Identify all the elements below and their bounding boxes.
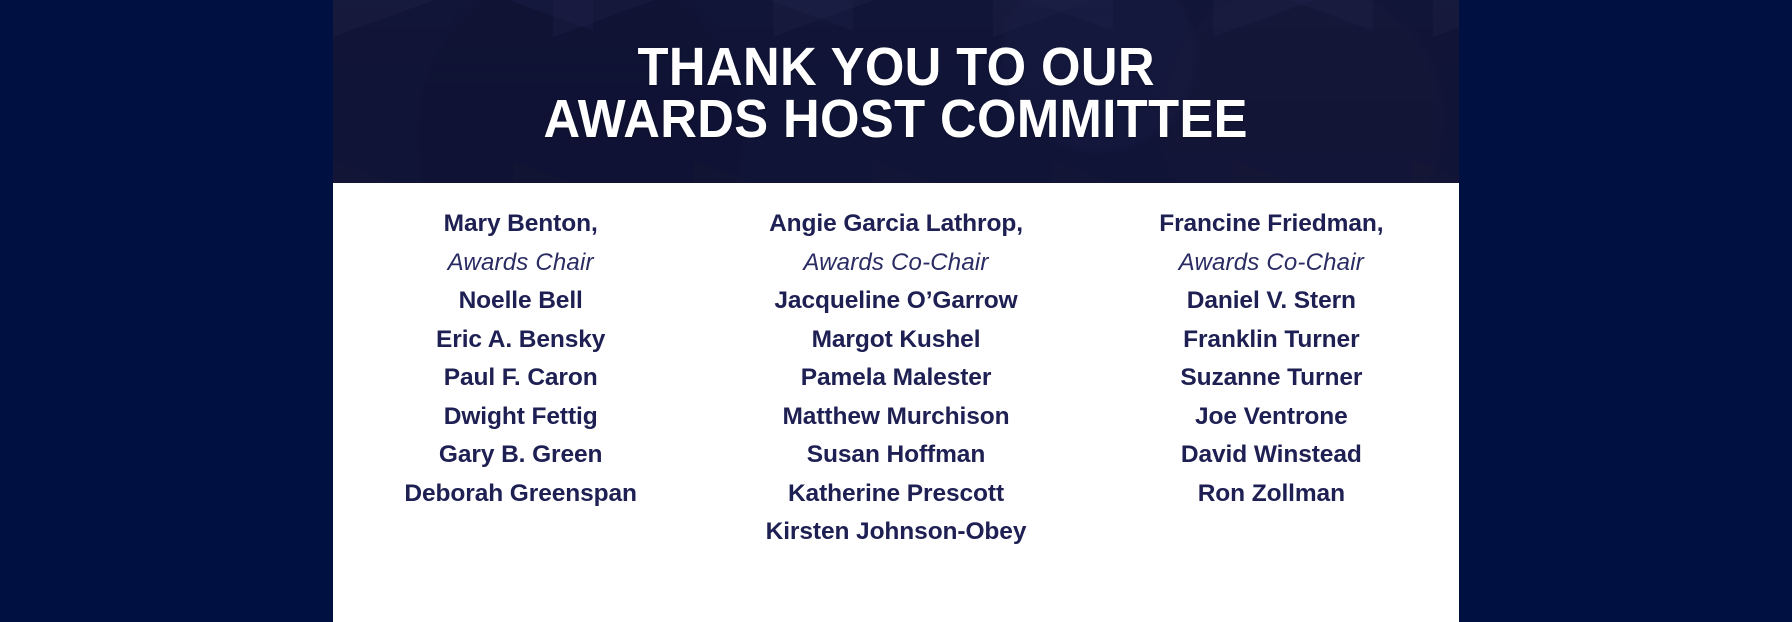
hero-banner: THANK YOU TO OUR AWARDS HOST COMMITTEE — [333, 0, 1459, 183]
page-title-line-2: AWARDS HOST COMMITTEE — [544, 93, 1248, 145]
page-root: THANK YOU TO OUR AWARDS HOST COMMITTEE M… — [0, 0, 1792, 622]
list-item: Kirsten Johnson-Obey — [766, 513, 1027, 552]
list-item: Matthew Murchison — [783, 398, 1010, 437]
committee-column-1: Mary Benton, Awards Chair Noelle Bell Er… — [333, 205, 708, 622]
content-panel: THANK YOU TO OUR AWARDS HOST COMMITTEE M… — [333, 0, 1459, 622]
list-item: Joe Ventrone — [1195, 398, 1348, 437]
list-item: Jacqueline O’Garrow — [774, 282, 1017, 321]
committee-chair-role: Awards Chair — [448, 244, 594, 283]
list-item: Paul F. Caron — [444, 359, 598, 398]
list-item: Noelle Bell — [459, 282, 583, 321]
committee-chair-role: Awards Co-Chair — [803, 244, 988, 283]
list-item: Franklin Turner — [1183, 321, 1359, 360]
list-item: David Winstead — [1181, 436, 1362, 475]
list-item: Katherine Prescott — [788, 475, 1004, 514]
list-item: Gary B. Green — [439, 436, 602, 475]
list-item: Pamela Malester — [801, 359, 992, 398]
list-item: Daniel V. Stern — [1187, 282, 1356, 321]
page-title-line-1: THANK YOU TO OUR — [637, 41, 1154, 93]
page-title: THANK YOU TO OUR AWARDS HOST COMMITTEE — [333, 0, 1459, 183]
committee-column-2: Angie Garcia Lathrop, Awards Co-Chair Ja… — [708, 205, 1083, 622]
committee-column-3: Francine Friedman, Awards Co-Chair Danie… — [1084, 205, 1459, 622]
list-item: Deborah Greenspan — [404, 475, 636, 514]
committee-columns: Mary Benton, Awards Chair Noelle Bell Er… — [333, 205, 1459, 622]
list-item: Margot Kushel — [812, 321, 981, 360]
list-item: Dwight Fettig — [444, 398, 598, 437]
committee-list-panel: Mary Benton, Awards Chair Noelle Bell Er… — [333, 183, 1459, 622]
committee-chair-role: Awards Co-Chair — [1179, 244, 1364, 283]
committee-chair-name: Francine Friedman, — [1159, 205, 1383, 244]
committee-chair-name: Angie Garcia Lathrop, — [769, 205, 1023, 244]
list-item: Ron Zollman — [1198, 475, 1345, 514]
list-item: Suzanne Turner — [1180, 359, 1362, 398]
list-item: Susan Hoffman — [807, 436, 985, 475]
list-item: Eric A. Bensky — [436, 321, 605, 360]
committee-chair-name: Mary Benton, — [444, 205, 598, 244]
